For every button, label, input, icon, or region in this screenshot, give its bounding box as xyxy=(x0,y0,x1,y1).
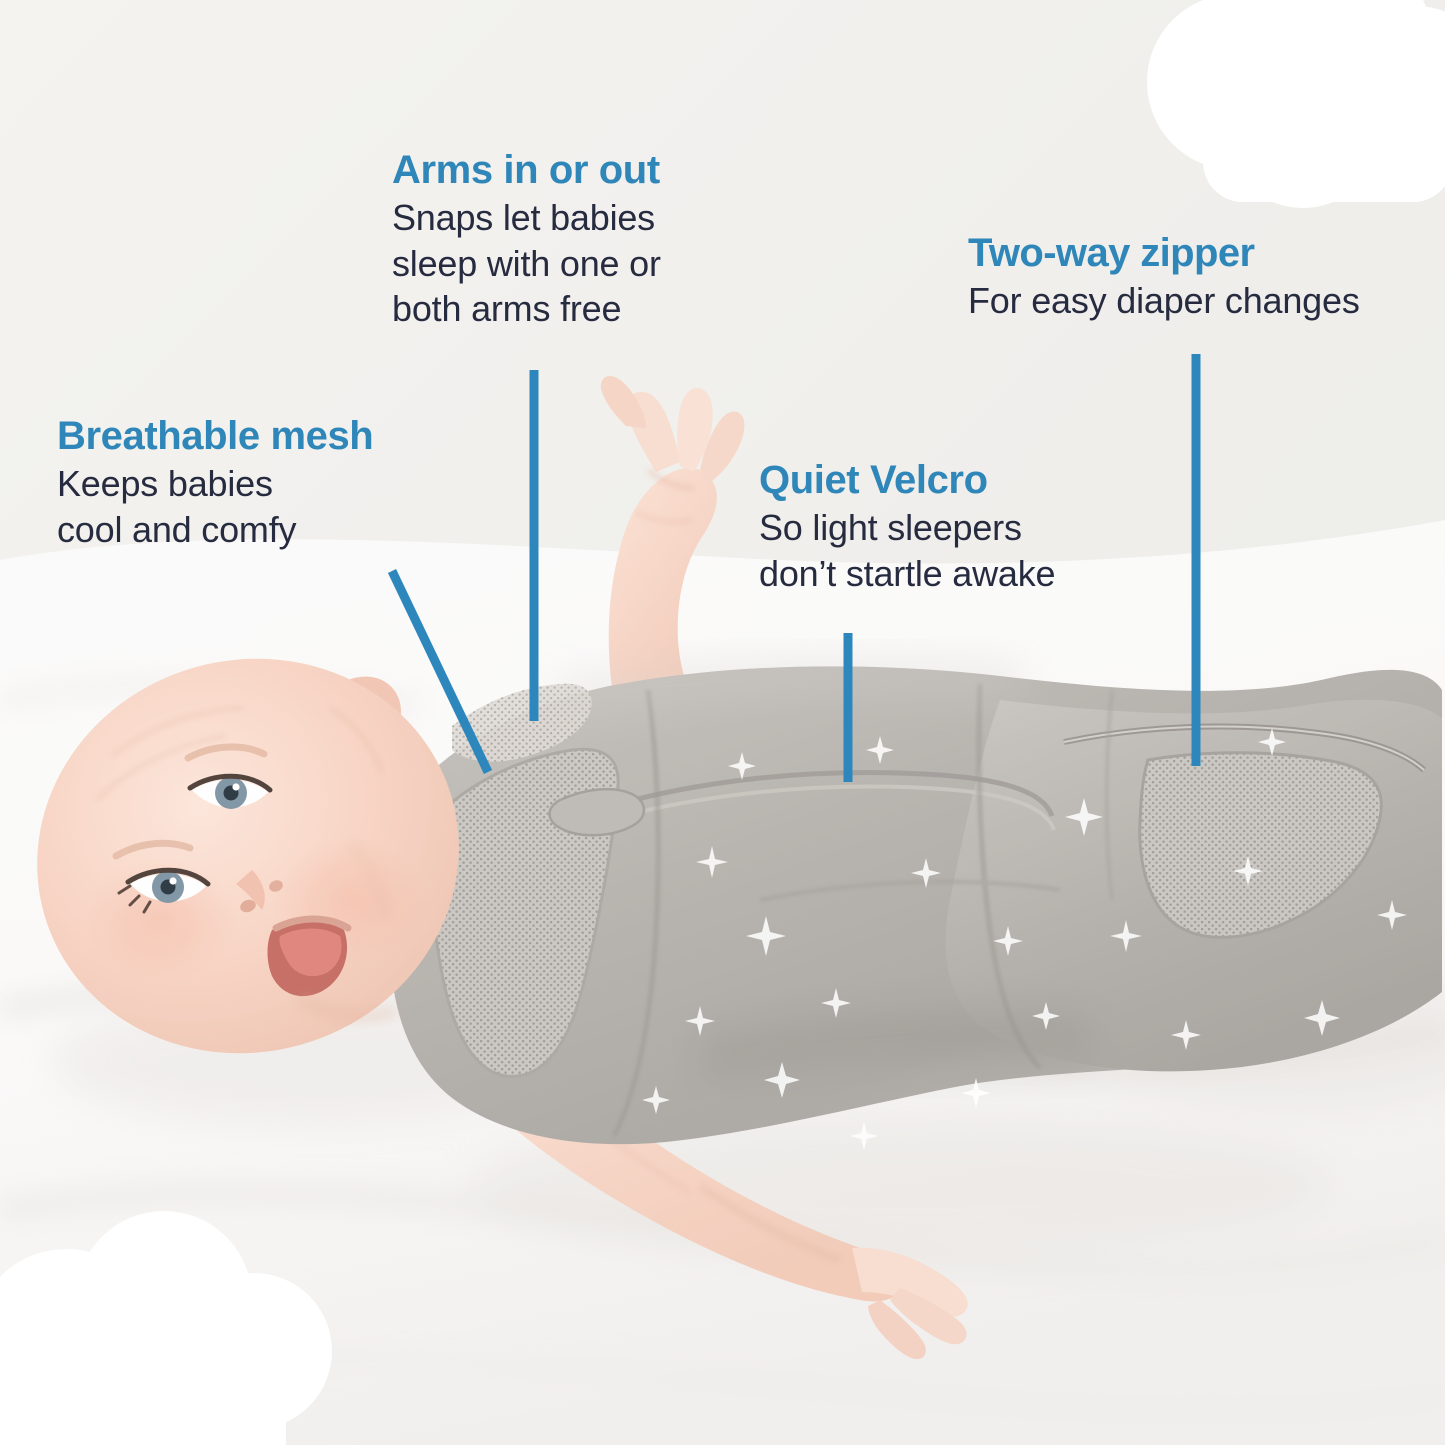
callout-title-arms-in-or-out: Arms in or out xyxy=(392,148,752,193)
callout-description-quiet-velcro: So light sleepers don’t startle awake xyxy=(759,505,1159,596)
callout-description-breathable-mesh: Keeps babies cool and comfy xyxy=(57,461,527,552)
callout-arms-in-or-out: Arms in or out Snaps let babies sleep wi… xyxy=(392,148,752,332)
callout-description-arms-in-or-out: Snaps let babies sleep with one or both … xyxy=(392,195,752,332)
callout-two-way-zipper: Two-way zipper For easy diaper changes xyxy=(968,231,1445,324)
product-feature-infographic: Arms in or out Snaps let babies sleep wi… xyxy=(0,0,1445,1445)
callout-breathable-mesh: Breathable mesh Keeps babies cool and co… xyxy=(57,414,527,552)
callout-description-two-way-zipper: For easy diaper changes xyxy=(968,278,1445,324)
callout-quiet-velcro: Quiet Velcro So light sleepers don’t sta… xyxy=(759,458,1159,596)
callout-title-two-way-zipper: Two-way zipper xyxy=(968,231,1445,276)
callout-title-quiet-velcro: Quiet Velcro xyxy=(759,458,1159,503)
callout-title-breathable-mesh: Breathable mesh xyxy=(57,414,527,459)
